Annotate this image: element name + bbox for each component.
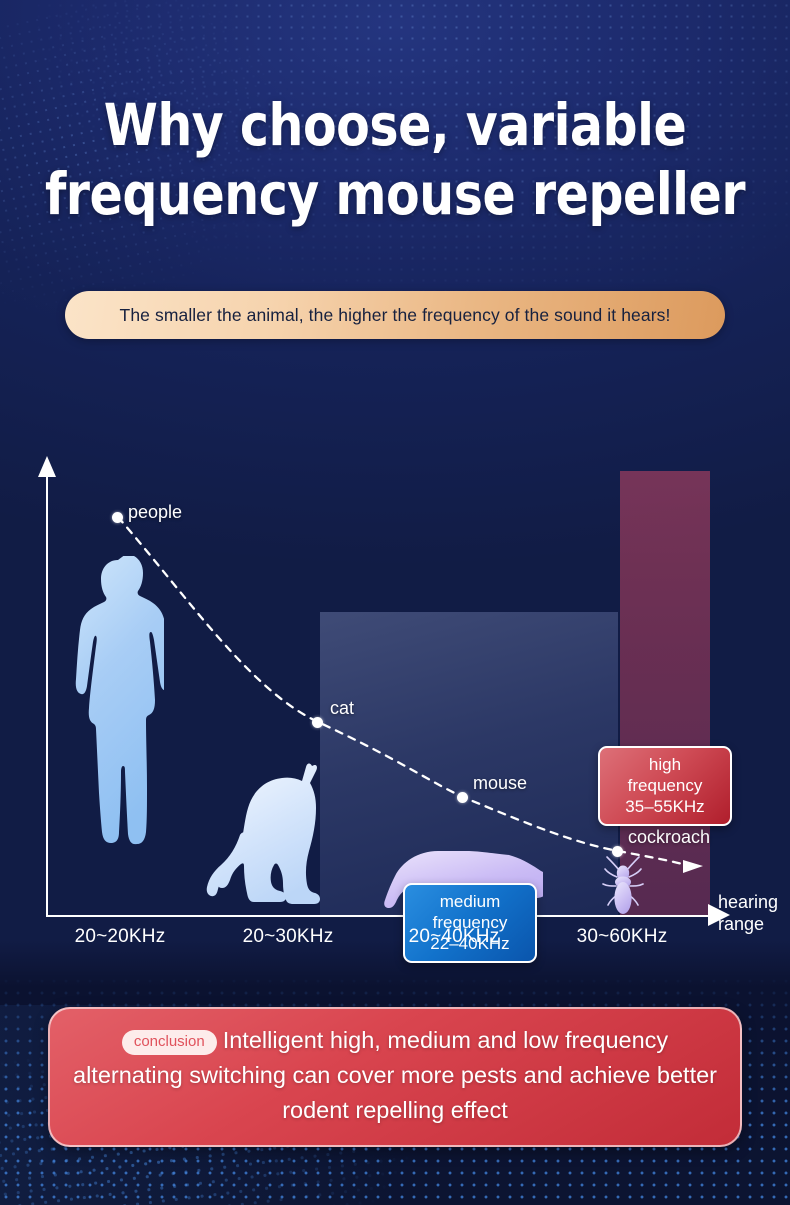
data-point-cockroach xyxy=(612,846,623,857)
data-point-cat xyxy=(312,717,323,728)
hearing-range-chart: people cat mouse cockroach high frequenc… xyxy=(0,360,790,960)
badge-medium-line1: medium xyxy=(417,891,523,912)
data-label-people: people xyxy=(128,502,182,523)
badge-high-line2: frequency xyxy=(612,775,718,796)
data-label-cockroach: cockroach xyxy=(628,827,710,848)
subtitle-banner: The smaller the animal, the higher the f… xyxy=(65,291,725,339)
x-tick-label-3: 20~40KHz xyxy=(382,926,526,948)
page-title: Why choose, variable frequency mouse rep… xyxy=(24,96,767,224)
page-title-line2: frequency mouse repeller xyxy=(24,165,767,224)
badge-medium-frequency: medium frequency 22–40KHz xyxy=(403,883,537,963)
conclusion-box: conclusionIntelligent high, medium and l… xyxy=(48,1007,742,1147)
x-tick-label-2: 20~30KHz xyxy=(216,926,360,948)
infographic-page: Why choose, variable frequency mouse rep… xyxy=(0,0,790,1205)
data-label-mouse: mouse xyxy=(473,773,527,794)
x-tick-label-4: 30~60KHz xyxy=(550,926,694,948)
conclusion-text-wrap: conclusionIntelligent high, medium and l… xyxy=(70,1023,720,1128)
data-label-cat: cat xyxy=(330,698,354,719)
conclusion-pill: conclusion xyxy=(122,1030,217,1055)
x-axis-caption-line2: range xyxy=(718,913,790,935)
x-axis-caption: hearing range xyxy=(718,891,790,935)
badge-high-line1: high xyxy=(612,754,718,775)
subtitle-text: The smaller the animal, the higher the f… xyxy=(120,305,671,326)
page-title-line1: Why choose, variable xyxy=(104,91,687,159)
x-tick-label-1: 20~20KHz xyxy=(48,926,192,948)
hearing-curve xyxy=(0,360,790,960)
x-axis-caption-line1: hearing xyxy=(718,891,790,913)
badge-high-line3: 35–55KHz xyxy=(612,796,718,817)
data-point-mouse xyxy=(457,792,468,803)
badge-high-frequency: high frequency 35–55KHz xyxy=(598,746,732,826)
data-point-people xyxy=(112,512,123,523)
